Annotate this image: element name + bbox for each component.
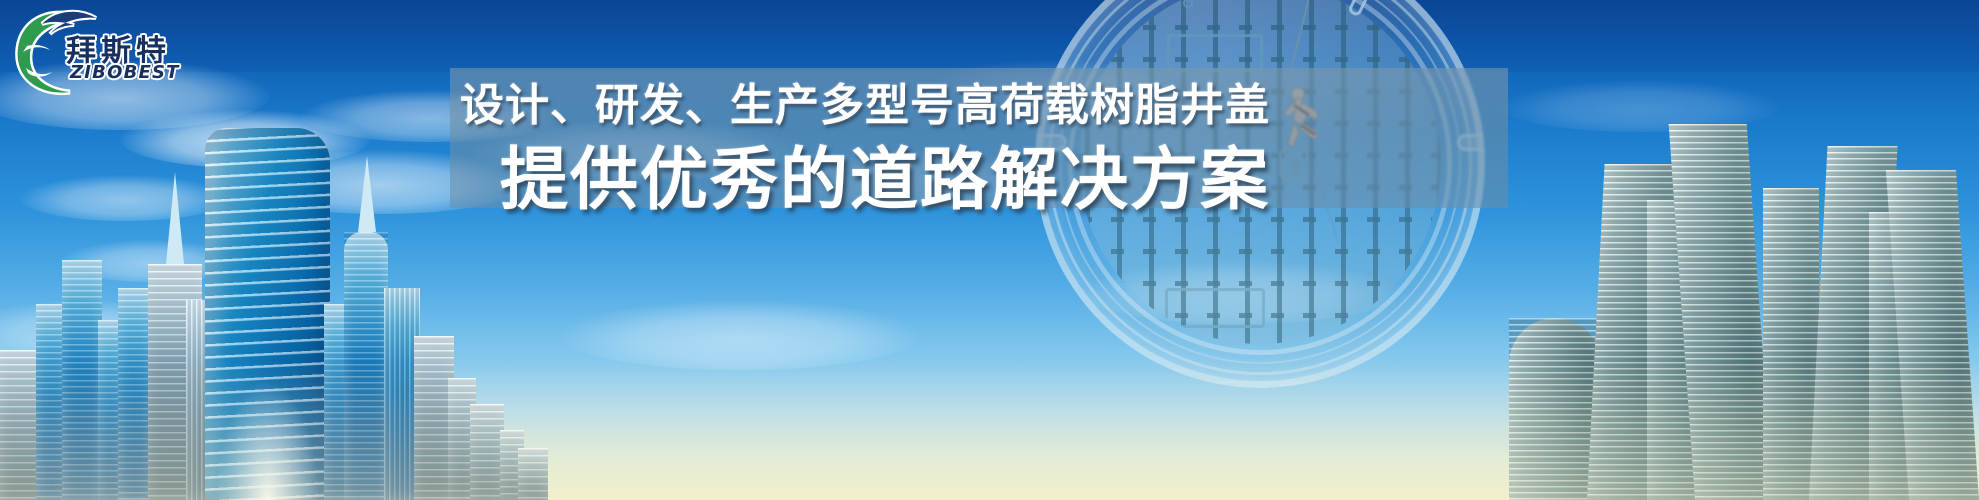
building xyxy=(518,448,548,500)
building xyxy=(344,232,388,500)
logo-english-name: ZIBOBEST xyxy=(70,62,180,83)
company-logo[interactable]: 拜斯特 ZIBOBEST xyxy=(8,6,160,102)
upper-rectangle-panel xyxy=(1167,34,1263,72)
right-city-skyline xyxy=(1509,80,1979,500)
building-spire xyxy=(358,156,376,232)
building xyxy=(62,260,102,500)
lower-rectangle-panel xyxy=(1165,288,1265,328)
building xyxy=(1509,318,1601,500)
sky-top-band xyxy=(0,0,1979,72)
headline-overlay-band xyxy=(450,68,1508,208)
building xyxy=(118,288,152,500)
building xyxy=(470,404,504,500)
tower-highlight xyxy=(215,380,320,500)
building-spire xyxy=(166,172,184,264)
promo-banner: 设计、研发、生产多型号高荷载树脂井盖 提供优秀的道路解决方案 拜斯特 ZIBOB… xyxy=(0,0,1979,500)
